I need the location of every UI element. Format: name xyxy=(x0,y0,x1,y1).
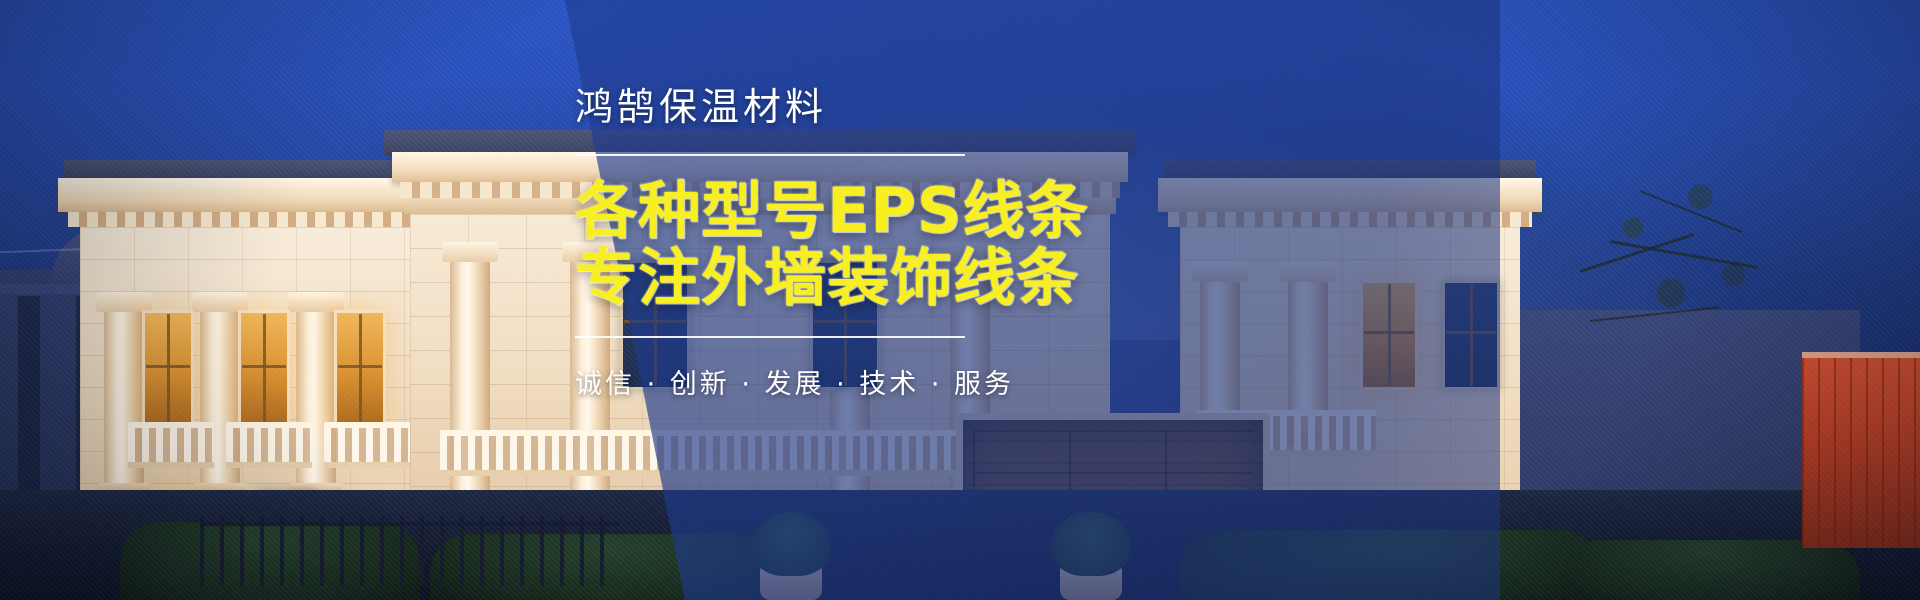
balcony-balustrade xyxy=(226,422,312,468)
headline-line-2: 专注外墙装饰线条 xyxy=(575,245,1215,312)
shrub xyxy=(752,512,830,576)
promo-banner: 鸿鹄保温材料 各种型号EPS线条 专注外墙装饰线条 诚信 · 创新 · 发展 ·… xyxy=(0,0,1920,600)
headline-line-1: 各种型号EPS线条 xyxy=(575,178,1215,245)
red-container xyxy=(1802,352,1920,548)
banner-text-block: 鸿鹄保温材料 各种型号EPS线条 专注外墙装饰线条 诚信 · 创新 · 发展 ·… xyxy=(575,88,1215,401)
divider-bottom xyxy=(575,336,965,338)
headline-group: 各种型号EPS线条 专注外墙装饰线条 xyxy=(575,178,1215,312)
divider-top xyxy=(575,154,965,156)
hedge xyxy=(1560,540,1860,600)
window-lit xyxy=(142,310,194,430)
slogan-text: 诚信 · 创新 · 发展 · 技术 · 服务 xyxy=(575,362,1215,401)
window-lit xyxy=(1360,280,1418,390)
wing-column xyxy=(1288,280,1328,430)
slogan-group: 诚信 · 创新 · 发展 · 技术 · 服务 xyxy=(575,336,1215,401)
balcony-balustrade xyxy=(128,422,214,468)
balcony-balustrade xyxy=(324,422,410,468)
window xyxy=(1442,280,1500,390)
shrub xyxy=(1052,512,1130,576)
window-lit xyxy=(334,310,386,430)
window-lit xyxy=(238,310,290,430)
iron-fence xyxy=(200,516,620,586)
hedge xyxy=(1180,530,1600,600)
brand-name: 鸿鹄保温材料 xyxy=(575,88,1215,126)
